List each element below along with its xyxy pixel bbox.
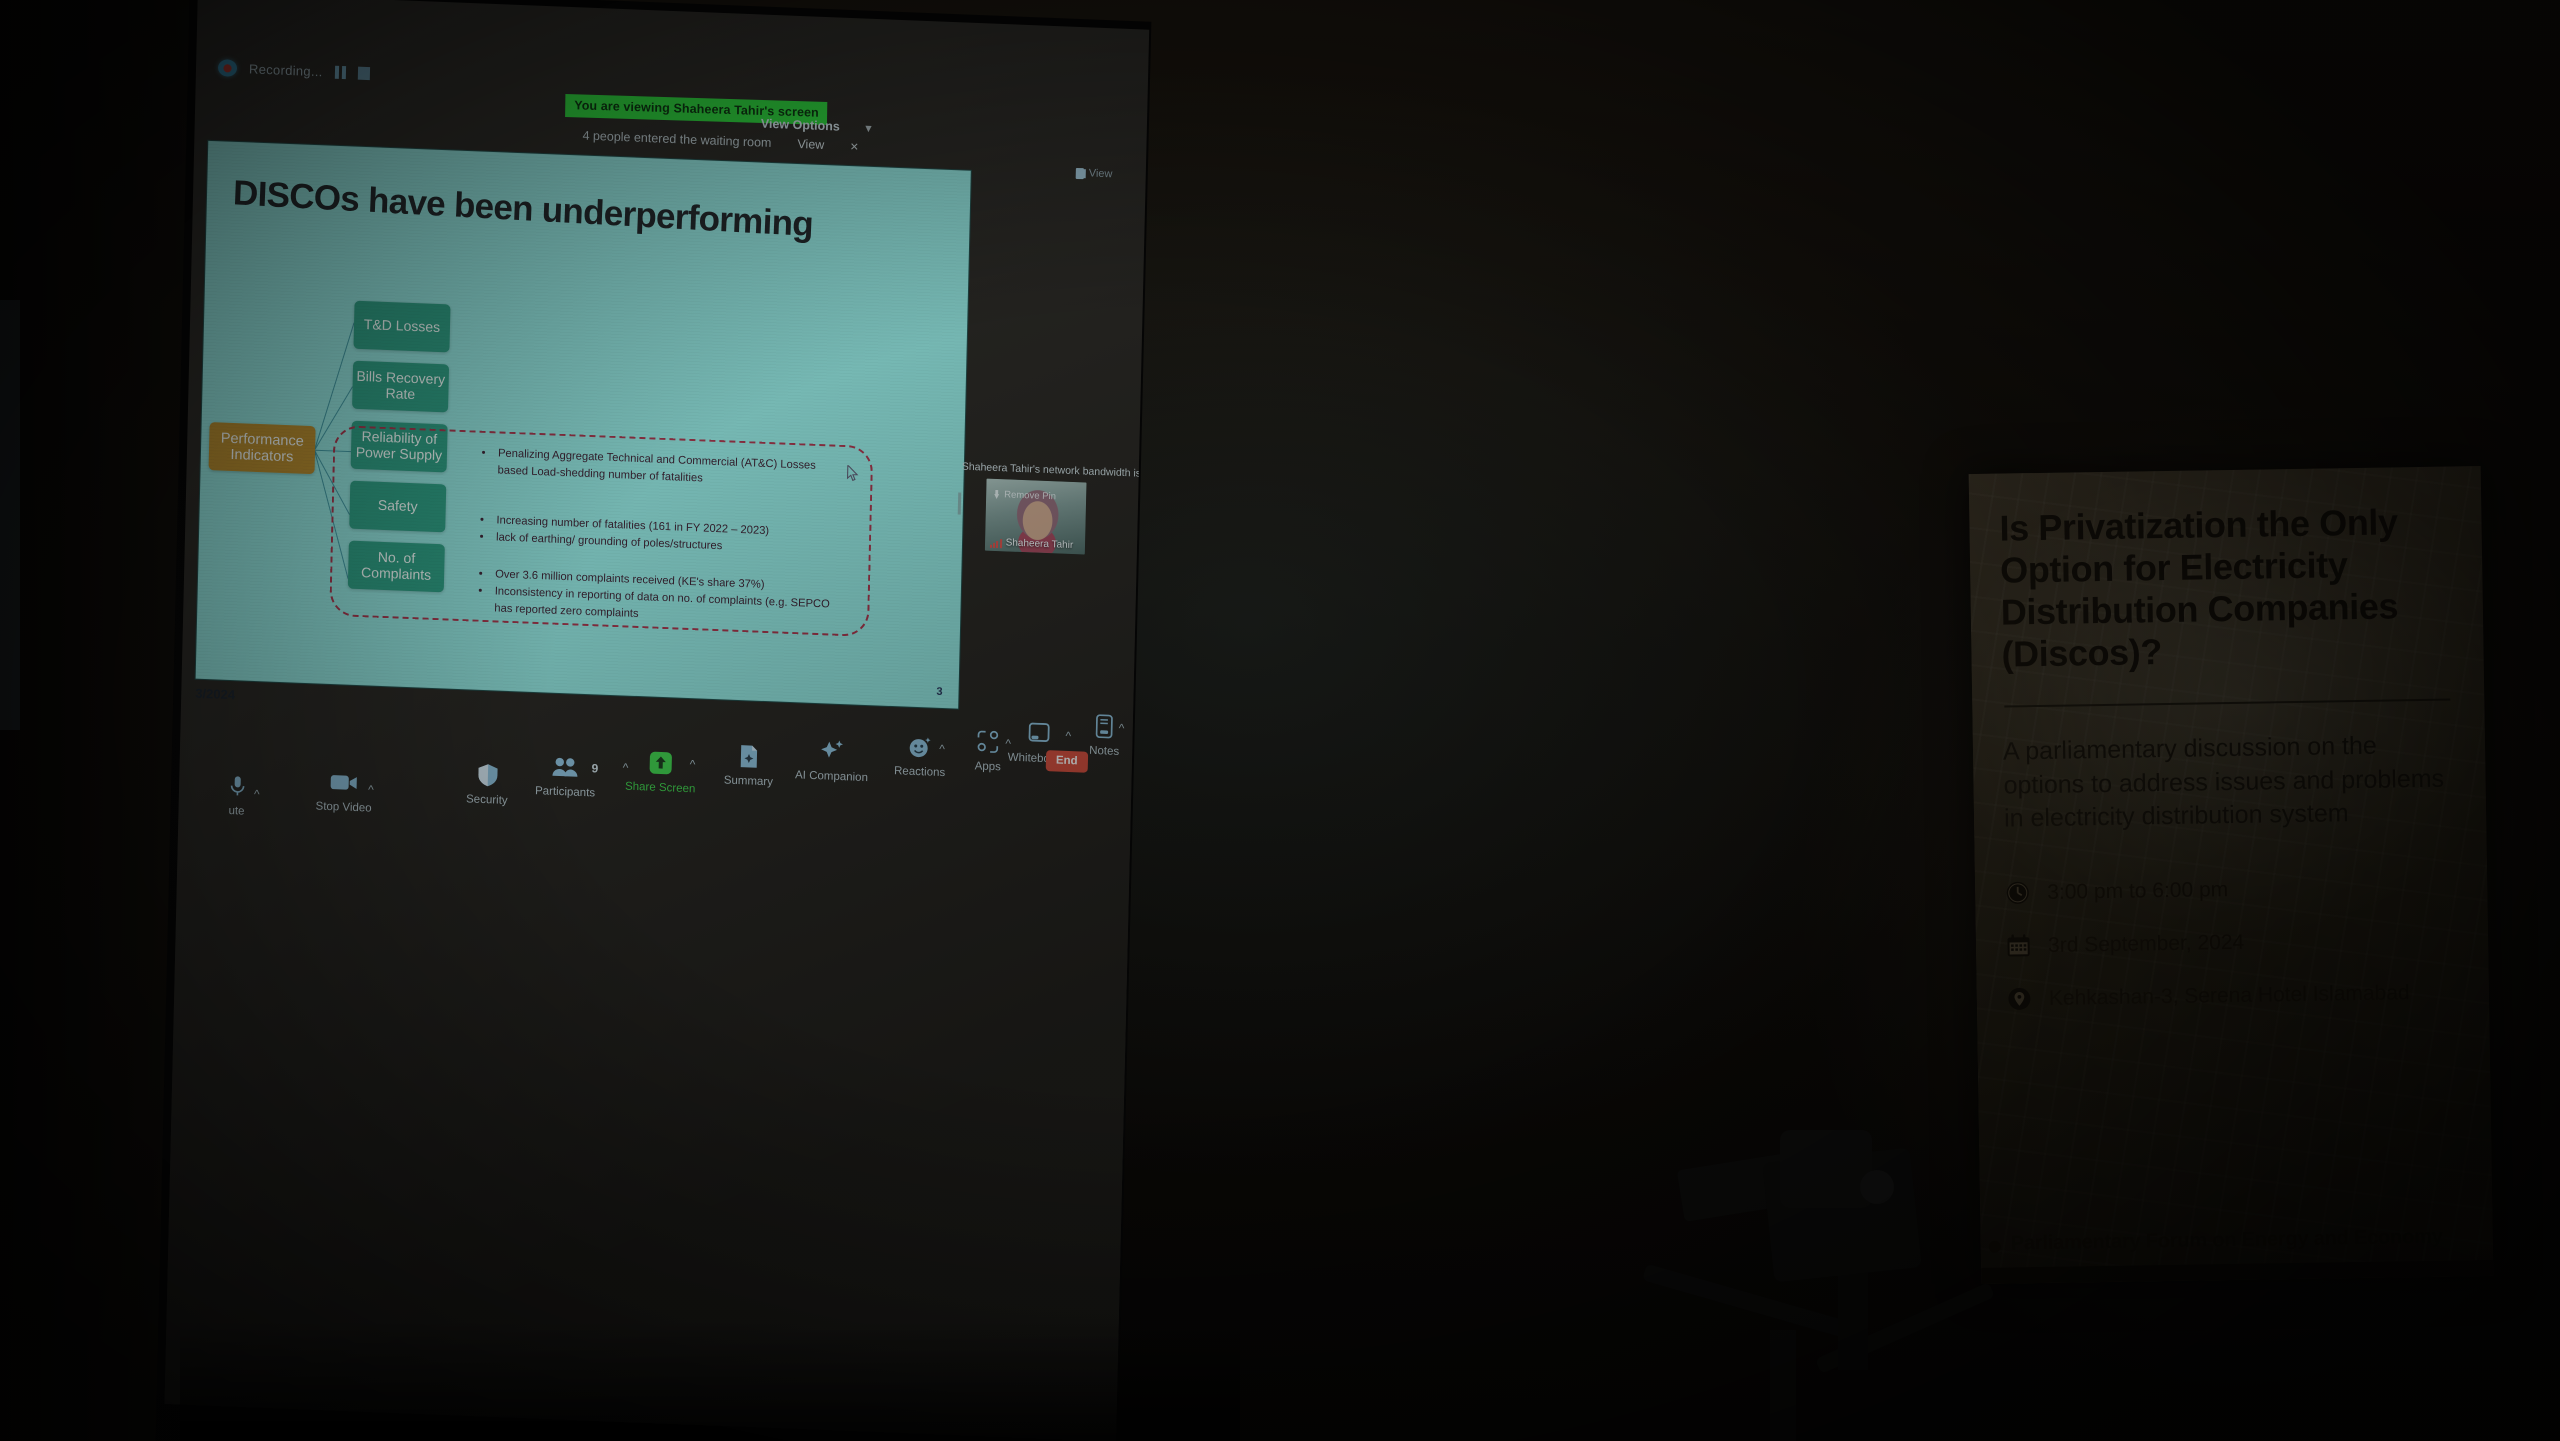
- calendar-icon: [2006, 933, 2031, 958]
- toolbar-item-ai-companion[interactable]: AI Companion: [785, 738, 878, 785]
- sparkle-icon: [819, 739, 846, 764]
- smiley-icon: [908, 735, 933, 760]
- shield-icon: [477, 763, 499, 788]
- share-screen-icon: [649, 751, 674, 776]
- remove-pin-label: Remove Pin: [1004, 489, 1056, 502]
- waiting-room-text: 4 people entered the waiting room: [582, 129, 771, 150]
- signal-bars-icon: [990, 539, 1002, 548]
- toolbar-label: Share Screen: [625, 781, 696, 796]
- recording-label: Recording...: [249, 61, 323, 79]
- mouse-cursor-icon: [846, 465, 858, 481]
- view-options-button[interactable]: View Options ▾: [761, 117, 872, 135]
- chevron-up-icon-video[interactable]: ^: [368, 783, 374, 797]
- poster-meta-text: 3rd September, 2024: [2048, 930, 2245, 960]
- pause-icon[interactable]: [335, 66, 346, 79]
- slide-title: DISCOs have been underperforming: [232, 173, 813, 245]
- tripod-leg: [1770, 1330, 1796, 1441]
- whiteboard-icon: [1028, 721, 1053, 746]
- poster-meta-text: Kehkashan-3, Serena Hotel Islamabad: [2049, 980, 2410, 1013]
- camera-head: [1780, 1130, 1872, 1208]
- toolbar-label: Summary: [724, 774, 773, 788]
- zoom-meeting-window: Recording... You are viewing Shaheera Ta…: [165, 0, 1150, 1441]
- toolbar-item-participants[interactable]: Participants: [519, 753, 612, 800]
- chevron-down-icon: ▾: [866, 121, 872, 134]
- toolbar-label: ute: [228, 805, 244, 818]
- toolbar-label: Stop Video: [315, 800, 371, 814]
- event-poster: Is Privatization the Only Option for Ele…: [1969, 466, 2494, 1284]
- node-td-losses: T&D Losses: [353, 301, 450, 353]
- poster-meta-text: 3:00 pm to 6:00 pm: [2047, 877, 2228, 907]
- poster-meta-date: 3rd September, 2024: [2006, 926, 2458, 960]
- toolbar-item-mute[interactable]: ute: [190, 773, 283, 820]
- view-layout-button[interactable]: View: [1076, 167, 1113, 180]
- chevron-up-icon-share[interactable]: ^: [690, 757, 696, 771]
- wall-panel: [0, 300, 20, 730]
- microphone-icon: [228, 774, 246, 799]
- poster-logo-mark: [1989, 1241, 2001, 1253]
- zoom-toolbar: ute ^ Stop Video ^ Security: [177, 698, 1133, 915]
- ellipsis-icon: [1140, 708, 1150, 733]
- node-performance-indicators: Performance Indicators: [209, 422, 316, 474]
- projection-screen: Recording... You are viewing Shaheera Ta…: [155, 0, 1189, 1441]
- summary-doc-icon: [739, 744, 760, 769]
- toolbar-item-summary[interactable]: Summary: [702, 743, 795, 790]
- pin-icon: [993, 490, 1000, 499]
- panel-drag-handle[interactable]: [958, 492, 962, 514]
- view-options-label: View Options: [761, 117, 840, 134]
- poster-meta-location: Kehkashan-3, Serena Hotel Islamabad: [2007, 979, 2459, 1013]
- toolbar-item-share-screen[interactable]: Share Screen: [614, 749, 707, 796]
- slide-page-number: 3: [936, 686, 942, 698]
- stop-icon[interactable]: [357, 67, 369, 80]
- toolbar-label: Reactions: [894, 765, 945, 779]
- end-meeting-button[interactable]: End: [1046, 750, 1088, 773]
- presenter-video-thumbnail[interactable]: Remove Pin Shaheera Tahir: [985, 479, 1087, 555]
- poster-divider: [2004, 699, 2450, 708]
- poster-meta-time: 3:00 pm to 6:00 pm: [2005, 873, 2457, 907]
- close-icon[interactable]: ×: [850, 138, 859, 154]
- toolbar-item-stop-video[interactable]: Stop Video: [298, 769, 391, 816]
- node-root-line2: Indicators: [230, 447, 293, 466]
- recording-indicator: Recording...: [218, 59, 370, 82]
- poster-title: Is Privatization the Only Option for Ele…: [1999, 500, 2454, 676]
- poster-subtitle: A parliamentary discussion on the option…: [2003, 729, 2457, 837]
- chevron-up-icon-mute[interactable]: ^: [254, 787, 260, 801]
- participants-count-badge: 9: [591, 761, 598, 775]
- location-pin-icon: [2007, 986, 2032, 1011]
- people-icon: [551, 755, 580, 780]
- room-scene: Recording... You are viewing Shaheera Ta…: [0, 0, 2560, 1441]
- toolbar-item-more[interactable]: More: [1105, 706, 1149, 753]
- video-camera-icon: [330, 770, 359, 795]
- waiting-room-view-button[interactable]: View: [797, 137, 824, 152]
- poster-meta-list: 3:00 pm to 6:00 pm 3rd September, 2024 K…: [2005, 873, 2459, 1013]
- toolbar-label: Participants: [535, 785, 595, 799]
- view-layout-label: View: [1089, 167, 1113, 180]
- record-dot-icon: [218, 59, 237, 77]
- shared-slide: DISCOs have been underperforming Perform…: [196, 141, 971, 709]
- toolbar-label: AI Companion: [795, 769, 868, 784]
- clock-icon: [2005, 880, 2030, 905]
- layout-view-icon: [1076, 167, 1084, 178]
- network-bandwidth-warning: Shaheera Tahir's network bandwidth is lo…: [962, 461, 1149, 481]
- screen-surface: Recording... You are viewing Shaheera Ta…: [155, 0, 1151, 1441]
- toolbar-label: Security: [466, 793, 508, 807]
- toolbar-label: More: [1138, 739, 1149, 752]
- poster-content: Is Privatization the Only Option for Ele…: [1969, 466, 2494, 1284]
- node-bills-recovery-rate: Bills Recovery Rate: [352, 361, 449, 413]
- camera-lens: [1860, 1170, 1894, 1204]
